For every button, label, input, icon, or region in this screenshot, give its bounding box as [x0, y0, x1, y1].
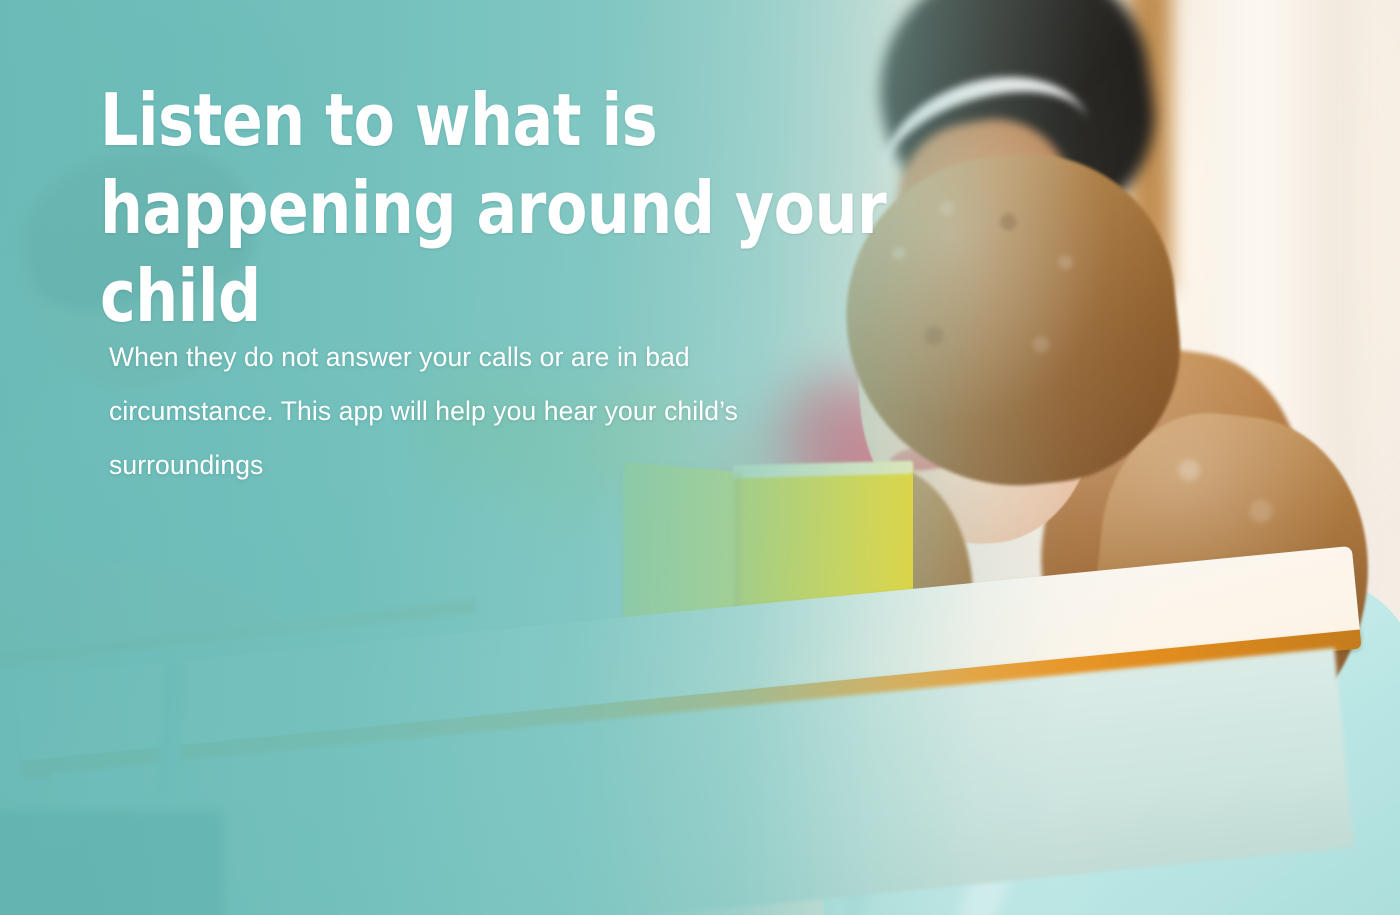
body-text: When they do not answer your calls or ar…: [109, 330, 829, 492]
promo-banner: Listen to what is happening around your …: [0, 0, 1400, 915]
headline: Listen to what is happening around your …: [100, 76, 937, 340]
banner-copy: Listen to what is happening around your …: [0, 0, 1400, 915]
